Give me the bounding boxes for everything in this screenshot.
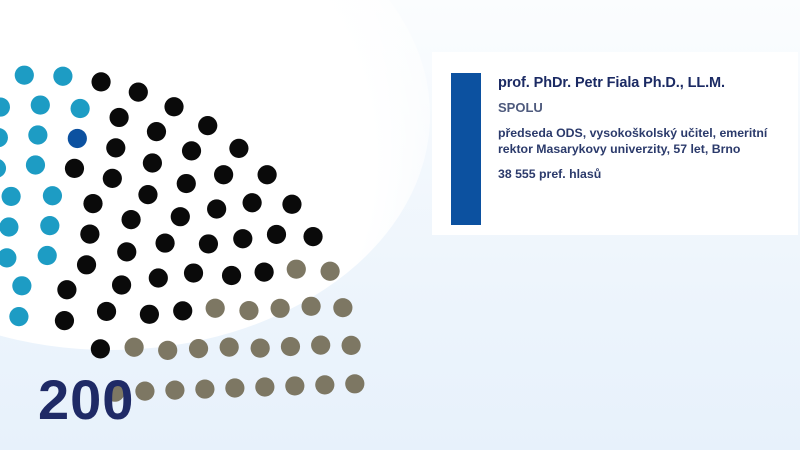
seat-dot[interactable] (281, 337, 300, 356)
seat-dot[interactable] (285, 376, 304, 395)
seat-dot[interactable] (158, 341, 177, 360)
seat-dot[interactable] (342, 336, 361, 355)
seat-dot[interactable] (0, 217, 18, 236)
candidate-info-card[interactable]: prof. PhDr. Petr Fiala Ph.D., LL.M. SPOL… (432, 52, 798, 235)
seat-dot[interactable] (207, 199, 226, 218)
seat-dot[interactable] (28, 125, 47, 144)
seat-dot[interactable] (155, 233, 174, 252)
seat-dot[interactable] (0, 97, 10, 116)
seat-dot[interactable] (282, 195, 301, 214)
seat-dot[interactable] (38, 246, 57, 265)
seat-dot[interactable] (239, 301, 258, 320)
seat-dot[interactable] (0, 248, 16, 267)
candidate-description: předseda ODS, vysokoškolský učitel, emer… (498, 125, 786, 157)
total-seats-label: 200 (38, 372, 134, 428)
seat-dot[interactable] (9, 307, 28, 326)
seat-dot[interactable] (26, 155, 45, 174)
seat-dot[interactable] (103, 169, 122, 188)
seat-dot[interactable] (311, 336, 330, 355)
election-seat-chart-screen: 200 prof. PhDr. Petr Fiala Ph.D., LL.M. … (0, 0, 800, 450)
seat-dot[interactable] (345, 374, 364, 393)
seat-dot[interactable] (233, 229, 252, 248)
seat-dot[interactable] (321, 262, 340, 281)
seat-dot[interactable] (182, 141, 201, 160)
seat-dot[interactable] (149, 268, 168, 287)
seat-dot[interactable] (302, 297, 321, 316)
seat-dot[interactable] (140, 305, 159, 324)
seat-dot[interactable] (121, 210, 140, 229)
seat-dot[interactable] (220, 338, 239, 357)
seat-dot[interactable] (135, 382, 154, 401)
seat-dot[interactable] (195, 379, 214, 398)
seat-dot[interactable] (117, 242, 136, 261)
seat-dot[interactable] (77, 255, 96, 274)
seat-dot[interactable] (80, 225, 99, 244)
seat-dot[interactable] (225, 378, 244, 397)
seat-dot[interactable] (129, 83, 148, 102)
seat-dot[interactable] (15, 66, 34, 85)
seat-dot[interactable] (258, 165, 277, 184)
seat-dot[interactable] (12, 276, 31, 295)
seat-dot[interactable] (198, 116, 217, 135)
seat-dot[interactable] (173, 301, 192, 320)
candidate-info-text: prof. PhDr. Petr Fiala Ph.D., LL.M. SPOL… (498, 75, 788, 183)
seat-dot[interactable] (65, 159, 84, 178)
seat-dot[interactable] (0, 128, 8, 147)
candidate-party: SPOLU (498, 100, 788, 116)
parliament-seat-dots[interactable] (0, 0, 430, 410)
seat-dot[interactable] (333, 298, 352, 317)
seat-dot[interactable] (222, 266, 241, 285)
seat-dot[interactable] (229, 139, 248, 158)
seat-dot[interactable] (243, 193, 262, 212)
seat-dot[interactable] (171, 207, 190, 226)
seat-dot[interactable] (0, 159, 6, 178)
seat-dot[interactable] (112, 275, 131, 294)
parliament-seat-diagram[interactable] (0, 0, 430, 410)
seat-dot[interactable] (303, 227, 322, 246)
seat-dot[interactable] (91, 72, 110, 91)
seat-dot[interactable] (55, 311, 74, 330)
seat-dot[interactable] (287, 260, 306, 279)
seat-dot[interactable] (110, 108, 129, 127)
seat-dot[interactable] (255, 262, 274, 281)
seat-dot[interactable] (177, 174, 196, 193)
seat-dot[interactable] (57, 280, 76, 299)
seat-dot[interactable] (165, 381, 184, 400)
seat-dot[interactable] (2, 187, 21, 206)
seat-dot[interactable] (125, 338, 144, 357)
seat-dot[interactable] (143, 153, 162, 172)
seat-dot[interactable] (31, 95, 50, 114)
seat-dot[interactable] (315, 375, 334, 394)
seat-dot[interactable] (68, 129, 87, 148)
seat-dot[interactable] (267, 225, 286, 244)
seat-dot[interactable] (251, 339, 270, 358)
seat-dot[interactable] (214, 165, 233, 184)
candidate-name: prof. PhDr. Petr Fiala Ph.D., LL.M. (498, 75, 788, 92)
seat-dot[interactable] (71, 99, 90, 118)
seat-dot[interactable] (206, 299, 225, 318)
seat-dot[interactable] (97, 302, 116, 321)
seat-dot[interactable] (53, 67, 72, 86)
seat-dot[interactable] (91, 339, 110, 358)
seat-dot[interactable] (106, 138, 125, 157)
seat-dot[interactable] (255, 377, 274, 396)
seat-dot[interactable] (138, 185, 157, 204)
seat-dot[interactable] (147, 122, 166, 141)
seat-dot[interactable] (184, 263, 203, 282)
party-color-swatch (451, 73, 481, 225)
seat-dot[interactable] (271, 299, 290, 318)
seat-dot[interactable] (189, 339, 208, 358)
seat-dot[interactable] (199, 234, 218, 253)
seat-dot[interactable] (40, 216, 59, 235)
seat-dot[interactable] (164, 97, 183, 116)
candidate-preferential-votes: 38 555 pref. hlasů (498, 167, 788, 183)
seat-dot[interactable] (83, 194, 102, 213)
seat-dot[interactable] (43, 186, 62, 205)
